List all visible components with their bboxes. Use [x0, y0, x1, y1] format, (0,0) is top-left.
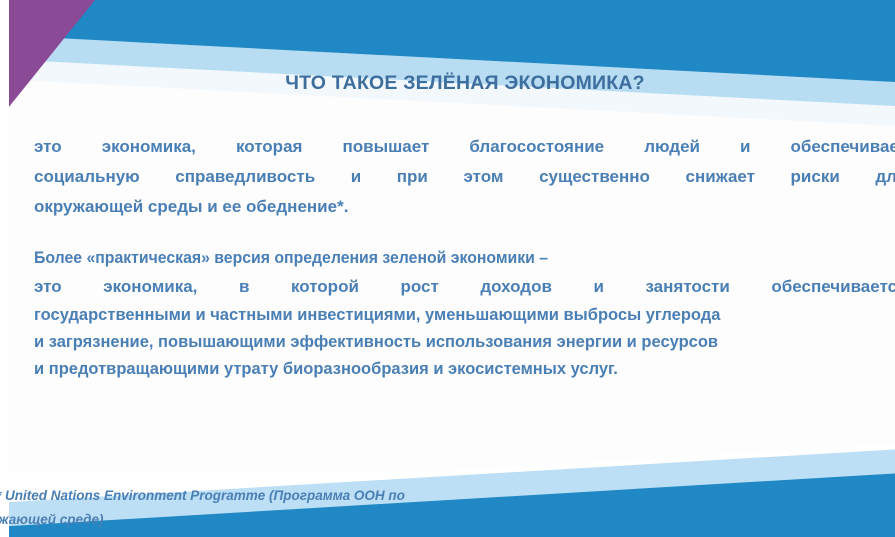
presentation-slide: ЧТО ТАКОЕ ЗЕЛЁНАЯ ЭКОНОМИКА? это экономи… — [0, 0, 895, 537]
paragraph-line: государственными и частными инвестициями… — [34, 302, 895, 329]
word: которая — [236, 132, 303, 162]
paragraph-2-body: государственными и частными инвестициями… — [34, 302, 895, 383]
word: обеспечивается — [771, 272, 895, 302]
paragraph-spacer — [34, 222, 895, 244]
word: этом — [463, 162, 503, 192]
word: риски — [791, 162, 840, 192]
word: и — [351, 162, 361, 192]
word: которой — [291, 272, 359, 302]
word: доходов — [480, 272, 552, 302]
word: обеспечивает — [791, 132, 895, 162]
word: для — [875, 162, 895, 192]
word: в — [239, 272, 249, 302]
word: справедливость — [175, 162, 315, 192]
word: людей — [644, 132, 700, 162]
paragraph-line: окружающей среды и ее обеднение*. — [34, 192, 895, 222]
top-faint-diagonal-band — [0, 58, 895, 136]
word: социальную — [34, 162, 140, 192]
word: экономика, — [103, 272, 197, 302]
word: существенно — [539, 162, 650, 192]
word: благосостояние — [469, 132, 604, 162]
slide-title: ЧТО ТАКОЕ ЗЕЛЁНАЯ ЭКОНОМИКА? — [0, 72, 895, 95]
word: это — [34, 132, 62, 162]
paragraph-line: и предотвращающими утрату биоразнообрази… — [34, 356, 895, 383]
paragraph-definition: это экономика, которая повышает благосос… — [34, 132, 895, 222]
paragraph-line: социальную справедливость и при этом сущ… — [34, 162, 895, 192]
word: при — [397, 162, 428, 192]
word: рост — [400, 272, 438, 302]
footnote-line: * United Nations Environment Programme (… — [0, 484, 556, 508]
word: экономика, — [102, 132, 196, 162]
word: повышает — [343, 132, 430, 162]
paragraph-line: это экономика, в которой рост доходов и … — [34, 272, 895, 302]
paragraph-line: и загрязнение, повышающими эффективность… — [34, 329, 895, 356]
word: снижает — [686, 162, 755, 192]
word: занятости — [645, 272, 729, 302]
purple-corner-triangle — [0, 0, 95, 118]
paragraph-2-first-line: это экономика, в которой рост доходов и … — [34, 272, 895, 302]
word: это — [34, 272, 62, 302]
slide-body: это экономика, которая повышает благосос… — [34, 132, 895, 383]
word: и — [593, 272, 603, 302]
paragraph-2-intro: Более «практическая» версия определения … — [34, 244, 880, 272]
word: и — [740, 132, 750, 162]
paragraph-line: это экономика, которая повышает благосос… — [34, 132, 895, 162]
footnote: * United Nations Environment Programme (… — [0, 484, 556, 532]
footnote-line: окружающей среде) — [0, 508, 556, 532]
